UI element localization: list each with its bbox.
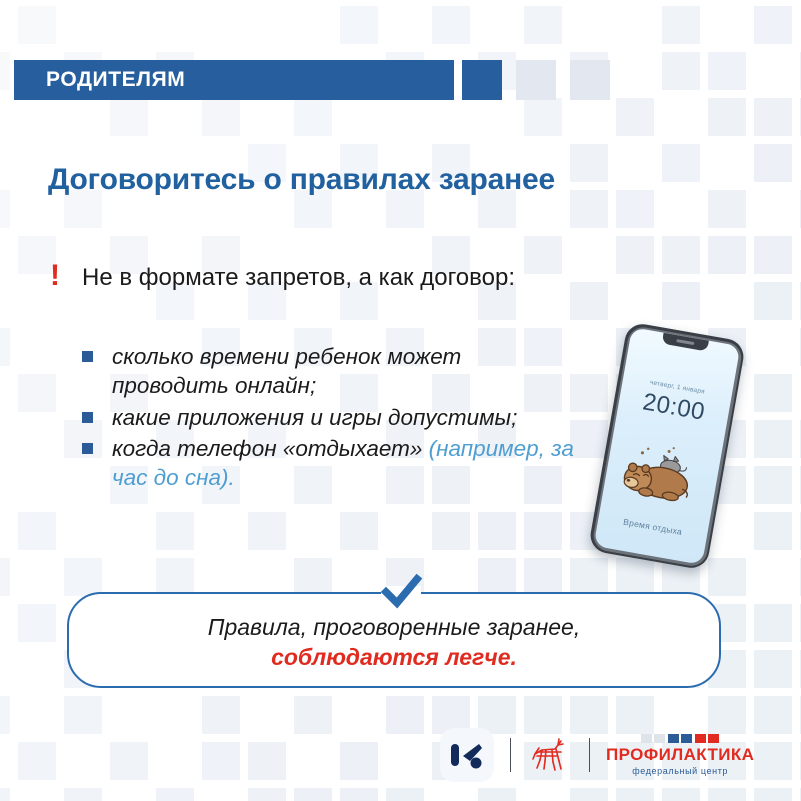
profilaktika-name: ПРОФИЛАКТИКА xyxy=(606,746,754,764)
deer-logo-icon xyxy=(527,733,573,777)
callout-text: Правила, проговоренные заранее, соблюдаю… xyxy=(67,612,721,673)
list-item: сколько времени ребенок может проводить … xyxy=(82,342,582,401)
bullet-square-icon xyxy=(82,443,93,454)
bullet-square-icon xyxy=(82,351,93,362)
bullet-list: сколько времени ребенок может проводить … xyxy=(82,342,582,494)
header-square-1 xyxy=(462,60,502,100)
page-title: Договоритесь о правилах заранее xyxy=(48,163,555,197)
bullet-square-icon xyxy=(82,412,93,423)
header-square-2 xyxy=(516,60,556,100)
header-label: РОДИТЕЛЯМ xyxy=(46,68,185,92)
footer-divider xyxy=(510,738,511,772)
list-item: когда телефон «отдыхает» (например, за ч… xyxy=(82,434,582,493)
footer: ПРОФИЛАКТИКА федеральный центр xyxy=(440,726,754,784)
subtitle-row: ! Не в формате запретов, а как договор: xyxy=(50,261,515,292)
callout-line-1: Правила, проговоренные заранее, xyxy=(67,612,721,642)
list-item-text: какие приложения и игры допустимы; xyxy=(112,403,517,432)
infographic-canvas: РОДИТЕЛЯМ Договоритесь о правилах заране… xyxy=(0,0,801,801)
phone-illustration: четверг, 1 января 20:00 xyxy=(588,321,746,570)
phone-caption: Время отдыха xyxy=(598,512,708,541)
list-item: какие приложения и игры допустимы; xyxy=(82,403,582,432)
sleeping-bear-icon xyxy=(614,436,709,512)
subtitle-text: Не в формате запретов, а как договор: xyxy=(82,264,515,292)
check-icon xyxy=(375,572,427,612)
footer-divider xyxy=(589,738,590,772)
exclamation-icon: ! xyxy=(50,261,60,291)
profilaktika-subtitle: федеральный центр xyxy=(632,766,728,776)
phone-screen: четверг, 1 января 20:00 xyxy=(594,327,741,565)
list-item-text: сколько времени ребенок может проводить … xyxy=(112,342,582,401)
tricolor-squares-icon xyxy=(641,734,720,743)
k-logo-icon xyxy=(440,728,494,782)
header-square-3 xyxy=(570,60,610,100)
profilaktika-logo: ПРОФИЛАКТИКА федеральный центр xyxy=(606,734,754,776)
callout-line-2: соблюдаются легче. xyxy=(67,642,721,672)
list-item-text: когда телефон «отдыхает» (например, за ч… xyxy=(112,434,582,493)
